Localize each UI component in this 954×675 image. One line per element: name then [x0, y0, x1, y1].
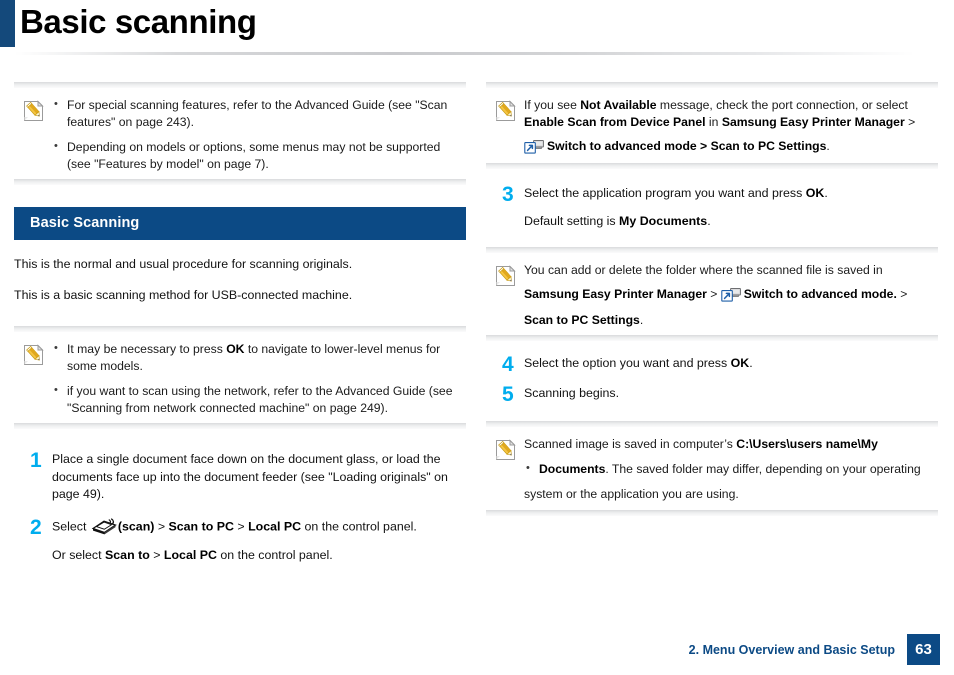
text-fragment: Or select	[52, 548, 105, 562]
step-text-line-1: Select the application program you want …	[524, 185, 938, 203]
footer-chapter-label: 2. Menu Overview and Basic Setup	[689, 643, 895, 657]
step-number: 2	[14, 518, 52, 538]
note-content: You can add or delete the folder where t…	[524, 262, 936, 329]
step-text: Place a single document face down on the…	[52, 451, 466, 504]
note-box-add-delete-folder: You can add or delete the folder where t…	[486, 247, 938, 342]
note-paragraph-2: Samsung Easy Printer Manager > Switch to…	[524, 286, 936, 304]
text-fragment: >	[234, 519, 248, 533]
text-fragment: .	[640, 313, 643, 327]
step-text-line-2: Default setting is My Documents.	[524, 213, 938, 231]
note-content: Scanned image is saved in computer’s C:\…	[524, 436, 936, 503]
note-content: If you see Not Available message, check …	[524, 97, 936, 156]
text-fragment: >	[707, 287, 721, 301]
emphasis-local-pc: Local PC	[164, 548, 217, 562]
step-text: Select the option you want and press OK.	[524, 355, 938, 373]
text-fragment: on the control panel.	[301, 519, 417, 533]
step-text: Scanning begins.	[524, 385, 938, 403]
note-pencil-icon	[495, 100, 516, 122]
note-pencil-icon-wrap	[14, 97, 52, 122]
list-item: It may be necessary to press OK to navig…	[52, 341, 464, 374]
note-bullet-list: It may be necessary to press OK to navig…	[52, 341, 464, 416]
text-fragment: .	[749, 356, 752, 370]
list-item: For special scanning features, refer to …	[52, 97, 464, 130]
section-banner-basic-scanning: Basic Scanning	[14, 207, 466, 240]
note-paragraph: You can add or delete the folder where t…	[524, 262, 936, 279]
intro-paragraph-1: This is the normal and usual procedure f…	[14, 256, 466, 273]
text-fragment: Default setting is	[524, 214, 619, 228]
text-fragment: .	[707, 214, 710, 228]
emphasis-not-available: Not Available	[580, 98, 656, 112]
emphasis-enable-scan: Enable Scan from Device Panel	[524, 115, 706, 129]
page-header: Basic scanning	[0, 0, 954, 58]
emphasis-scan-pc-settings: Scan to PC Settings	[524, 313, 640, 327]
list-item: if you want to scan using the network, r…	[52, 383, 464, 416]
note-content: It may be necessary to press OK to navig…	[52, 341, 464, 416]
note-bullet-list: Documents. The saved folder may differ, …	[524, 461, 936, 478]
text-fragment: on the control panel.	[217, 548, 333, 562]
note-content: For special scanning features, refer to …	[52, 97, 464, 172]
note-paragraph-3: system or the application you are using.	[524, 486, 936, 503]
note-paragraph-2: Switch to advanced mode > Scan to PC Set…	[524, 138, 936, 156]
step-body: Select the option you want and press OK.	[524, 355, 938, 373]
emphasis-my-documents: My Documents	[619, 214, 707, 228]
emphasis-scan-pc-settings: Scan to PC Settings	[711, 139, 827, 153]
note-box-scanning-features: For special scanning features, refer to …	[14, 82, 466, 185]
header-divider	[15, 52, 915, 55]
step-body: Place a single document face down on the…	[52, 451, 466, 504]
list-item: Documents. The saved folder may differ, …	[524, 461, 936, 478]
intro-paragraph-2: This is a basic scanning method for USB-…	[14, 287, 466, 304]
text-fragment: Select	[52, 519, 90, 533]
note-bullet-list: For special scanning features, refer to …	[52, 97, 464, 172]
step-4: 4 Select the option you want and press O…	[486, 355, 938, 375]
text-fragment: Select the application program you want …	[524, 186, 806, 200]
text-fragment: message, check the port connection, or s…	[657, 98, 908, 112]
step-number: 4	[486, 355, 524, 375]
note-pencil-icon-wrap	[486, 436, 524, 461]
page-title: Basic scanning	[20, 0, 257, 46]
step-text-line-1: Select (scan) > Scan to PC > Local PC on…	[52, 518, 466, 537]
note-box-ok-navigation: It may be necessary to press OK to navig…	[14, 326, 466, 429]
text-fragment: in	[706, 115, 722, 129]
note-paragraph: If you see Not Available message, check …	[524, 97, 936, 130]
text-fragment: >	[897, 287, 908, 301]
text-fragment: Scanned image is saved in computer’s	[524, 437, 736, 451]
emphasis-switch-advanced: Switch to advanced mode.	[744, 287, 897, 301]
emphasis-documents: Documents	[539, 462, 605, 476]
step-number: 5	[486, 385, 524, 405]
text-fragment: >	[905, 115, 916, 129]
note-box-saved-path: Scanned image is saved in computer’s C:\…	[486, 421, 938, 516]
scanner-icon	[90, 518, 118, 537]
note-box-not-available: If you see Not Available message, check …	[486, 82, 938, 169]
emphasis-ok: OK	[806, 186, 825, 200]
note-pencil-icon-wrap	[486, 97, 524, 122]
text-fragment: Select the option you want and press	[524, 356, 731, 370]
step-number: 3	[486, 185, 524, 205]
emphasis-scan-to-pc: Scan to PC	[169, 519, 234, 533]
step-text-line-2: Or select Scan to > Local PC on the cont…	[52, 547, 466, 565]
header-accent-bar	[0, 0, 15, 47]
step-body: Select the application program you want …	[524, 185, 938, 231]
scan-label: (scan)	[118, 519, 155, 533]
step-body: Scanning begins.	[524, 385, 938, 403]
emphasis-local-pc: Local PC	[248, 519, 301, 533]
emphasis-sepm: Samsung Easy Printer Manager	[722, 115, 905, 129]
text-fragment: . The saved folder may differ, depending…	[605, 462, 920, 476]
text-fragment: .	[826, 139, 829, 153]
step-1: 1 Place a single document face down on t…	[14, 451, 466, 504]
switch-to-advanced-mode-icon	[721, 286, 744, 304]
emphasis-switch-advanced: Switch to advanced mode	[547, 139, 697, 153]
emphasis-scan-to: Scan to	[105, 548, 150, 562]
emphasis-save-path: C:\Users\users name\My	[736, 437, 878, 451]
emphasis-sepm: Samsung Easy Printer Manager	[524, 287, 707, 301]
note-pencil-icon	[495, 265, 516, 287]
text-fragment: .	[824, 186, 827, 200]
note-paragraph-3: Scan to PC Settings.	[524, 312, 936, 329]
text-fragment: If you see	[524, 98, 580, 112]
step-2: 2 Select (scan) > Scan to PC > Local PC …	[14, 518, 466, 565]
note-pencil-icon	[23, 344, 44, 366]
note-pencil-icon	[23, 100, 44, 122]
emphasis-ok: OK	[731, 356, 750, 370]
footer-page-number: 63	[907, 634, 940, 665]
text-separator: >	[697, 139, 711, 153]
text-fragment: >	[154, 519, 168, 533]
step-number: 1	[14, 451, 52, 471]
step-5: 5 Scanning begins.	[486, 385, 938, 405]
note-paragraph: Scanned image is saved in computer’s C:\…	[524, 436, 936, 453]
left-column: For special scanning features, refer to …	[14, 82, 466, 565]
emphasis-ok: OK	[226, 342, 244, 356]
note-pencil-icon-wrap	[14, 341, 52, 366]
right-column: If you see Not Available message, check …	[486, 82, 938, 516]
note-pencil-icon-wrap	[486, 262, 524, 287]
page-footer: 2. Menu Overview and Basic Setup 63	[689, 634, 940, 665]
text-fragment: >	[150, 548, 164, 562]
list-item: Depending on models or options, some men…	[52, 139, 464, 172]
step-3: 3 Select the application program you wan…	[486, 185, 938, 231]
step-body: Select (scan) > Scan to PC > Local PC on…	[52, 518, 466, 565]
text-fragment: It may be necessary to press	[67, 342, 226, 356]
note-pencil-icon	[495, 439, 516, 461]
switch-to-advanced-mode-icon	[524, 138, 547, 156]
